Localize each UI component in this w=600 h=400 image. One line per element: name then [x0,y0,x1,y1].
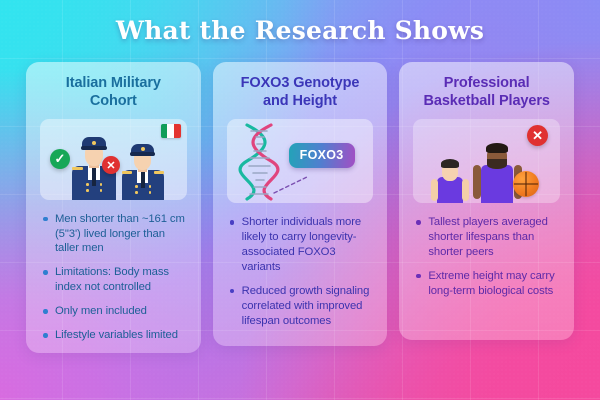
bullet-list-card-2: Shorter individuals more likely to carry… [224,215,377,328]
card-italian-military-cohort[interactable]: Italian Military Cohort [26,62,201,353]
dashed-leader-line [273,175,309,195]
list-item: Lifestyle variables limited [41,328,188,343]
list-item: Only men included [41,304,188,319]
card-title-line1: Italian Military [66,75,161,91]
card-title-line1: Professional [444,75,530,91]
bullet-list-card-1: Men shorter than ~161 cm (5"3') lived lo… [37,212,190,343]
card-title-line2: Basketball Players [423,93,549,109]
cards-container: Italian Military Cohort [26,62,574,354]
card-title-line1: FOXO3 Genotype [241,75,360,91]
list-item: Tallest players averaged shorter lifespa… [414,215,561,260]
list-item: Men shorter than ~161 cm (5"3') lived lo… [41,212,188,257]
card-title-line2: Cohort [90,93,137,109]
card-title-line2: and Height [263,93,337,109]
bullet-list-card-3: Tallest players averaged shorter lifespa… [410,215,563,299]
list-item: Shorter individuals more likely to carry… [228,215,375,275]
list-item: Limitations: Body mass index not control… [41,265,188,295]
red-x-badge: ✕ [527,125,548,146]
soldier-right-figure [120,138,166,200]
basketball-icon [513,171,539,197]
illustration-italian-soldiers: ✓ ✕ [40,119,187,199]
card-title-italian-military-cohort: Italian Military Cohort [37,74,190,110]
green-check-badge: ✓ [50,149,70,169]
card-professional-basketball-players[interactable]: Professional Basketball Players [399,62,574,340]
gene-label-badge: FOXO3 [289,143,355,168]
card-title-foxo3-genotype-and-height: FOXO3 Genotype and Height [224,74,377,110]
page-title: What the Research Shows [0,16,600,45]
card-title-professional-basketball-players: Professional Basketball Players [410,74,563,110]
card-foxo3-genotype-and-height[interactable]: FOXO3 Genotype and Height [213,62,388,346]
italian-flag-icon [161,124,181,138]
player-short-figure [429,153,471,203]
list-item: Extreme height may carry long-term biolo… [414,269,561,299]
illustration-basketball-players: ✕ [413,119,560,203]
illustration-dna-helix: FOXO3 [227,119,374,203]
list-item: Reduced growth signaling correlated with… [228,284,375,329]
